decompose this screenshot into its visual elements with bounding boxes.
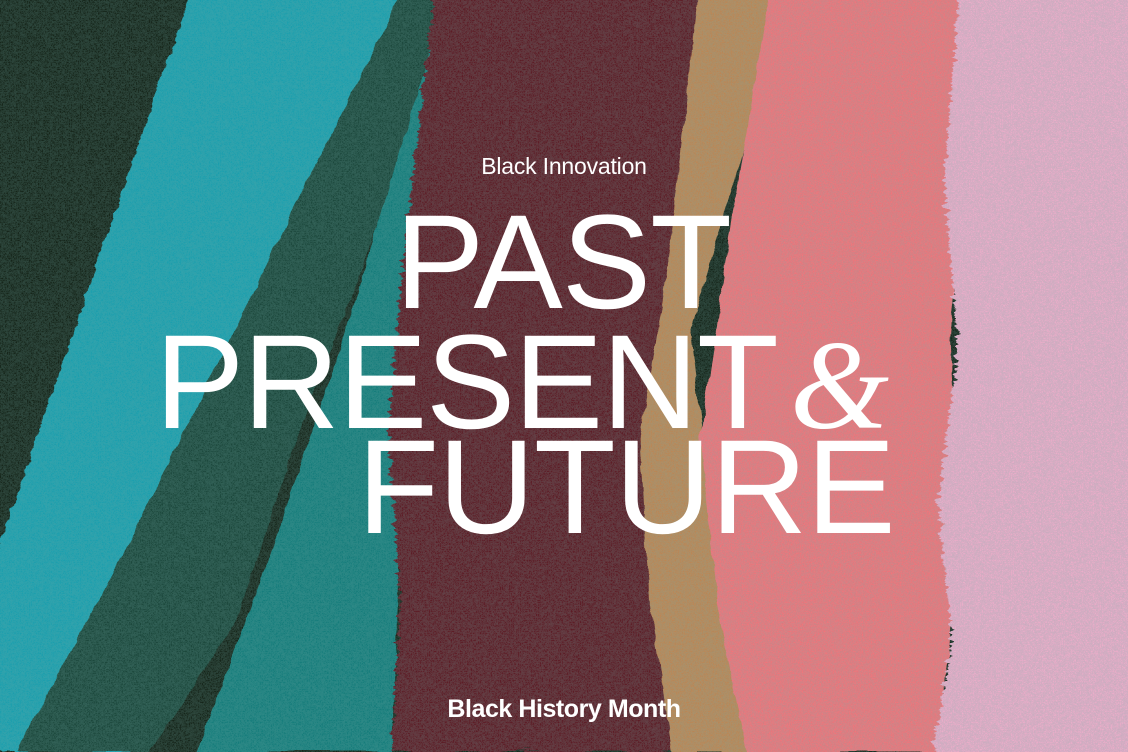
eyebrow-label: Black Innovation [0, 155, 1128, 178]
footer-label: Black History Month [0, 697, 1128, 722]
headline-line-future: FUTURE [62, 422, 1128, 553]
poster-content: Black Innovation PAST PRESENT& FUTURE Bl… [0, 0, 1128, 752]
poster-canvas: Black Innovation PAST PRESENT& FUTURE Bl… [0, 0, 1128, 752]
